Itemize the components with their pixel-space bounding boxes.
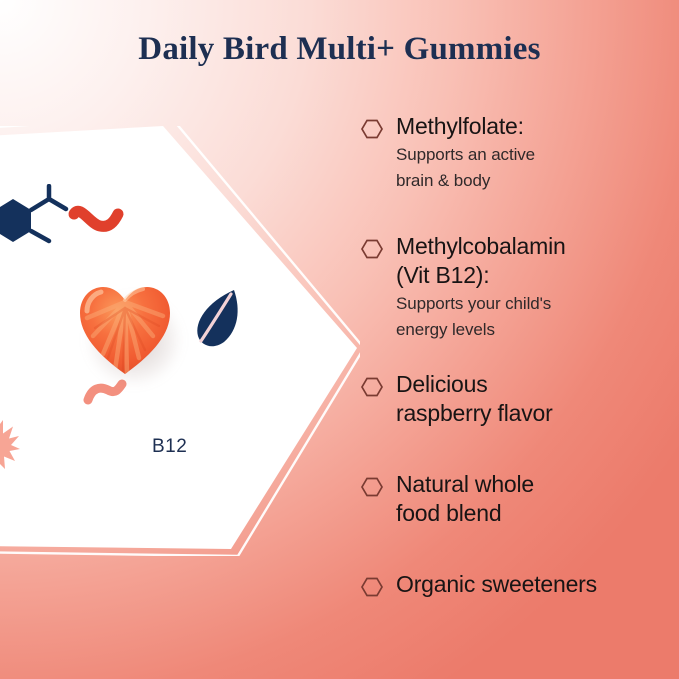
list-item: Delicious raspberry flavor bbox=[360, 370, 675, 428]
list-item-text: Delicious raspberry flavor bbox=[396, 370, 675, 428]
list-item-title: Organic sweeteners bbox=[396, 570, 675, 599]
list-item-text: Natural whole food blend bbox=[396, 470, 675, 528]
label-b12: B12 bbox=[152, 436, 187, 458]
list-item-title: Delicious bbox=[396, 370, 675, 399]
list-item-title: Natural whole bbox=[396, 470, 675, 499]
list-item-sub-line-1: Supports your child's bbox=[396, 291, 675, 316]
leaf-navy-icon bbox=[191, 284, 249, 356]
starburst-icon bbox=[0, 416, 20, 472]
hexagon-bullet-icon bbox=[360, 575, 384, 599]
list-item-title-line-2: (Vit B12): bbox=[396, 261, 675, 290]
list-item-text: Organic sweeteners bbox=[396, 570, 675, 599]
hexagon-product-panel: 5-MTHF B12 bbox=[0, 126, 360, 556]
list-item: Methylcobalamin (Vit B12): Supports your… bbox=[360, 232, 675, 342]
list-item-title-line-2: raspberry flavor bbox=[396, 399, 675, 428]
heart-gummy bbox=[75, 278, 175, 378]
list-item-sub-line-2: brain & body bbox=[396, 168, 675, 193]
list-item-sub-line-2: energy levels bbox=[396, 317, 675, 342]
list-item-text: Methylfolate: Supports an active brain &… bbox=[396, 112, 675, 193]
panel-contents: 5-MTHF B12 bbox=[0, 126, 360, 556]
hexagon-bullet-icon bbox=[360, 475, 384, 499]
list-item: Methylfolate: Supports an active brain &… bbox=[360, 112, 675, 193]
hexagon-bullet-icon bbox=[360, 375, 384, 399]
infographic-canvas: Daily Bird Multi+ Gummies bbox=[0, 0, 679, 679]
list-item-title: Methylfolate: bbox=[396, 112, 675, 141]
list-item-title: Methylcobalamin bbox=[396, 232, 675, 261]
list-item-title-line-2: food blend bbox=[396, 499, 675, 528]
list-item-sub-line-1: Supports an active bbox=[396, 142, 675, 167]
list-item-text: Methylcobalamin (Vit B12): Supports your… bbox=[396, 232, 675, 342]
hexagon-bullet-icon bbox=[360, 117, 384, 141]
page-title: Daily Bird Multi+ Gummies bbox=[0, 31, 679, 68]
hexagon-bullet-icon bbox=[360, 237, 384, 261]
squiggle-red-icon bbox=[66, 202, 126, 246]
list-item: Organic sweeteners bbox=[360, 570, 675, 599]
list-item: Natural whole food blend bbox=[360, 470, 675, 528]
molecule-icon bbox=[0, 184, 73, 254]
